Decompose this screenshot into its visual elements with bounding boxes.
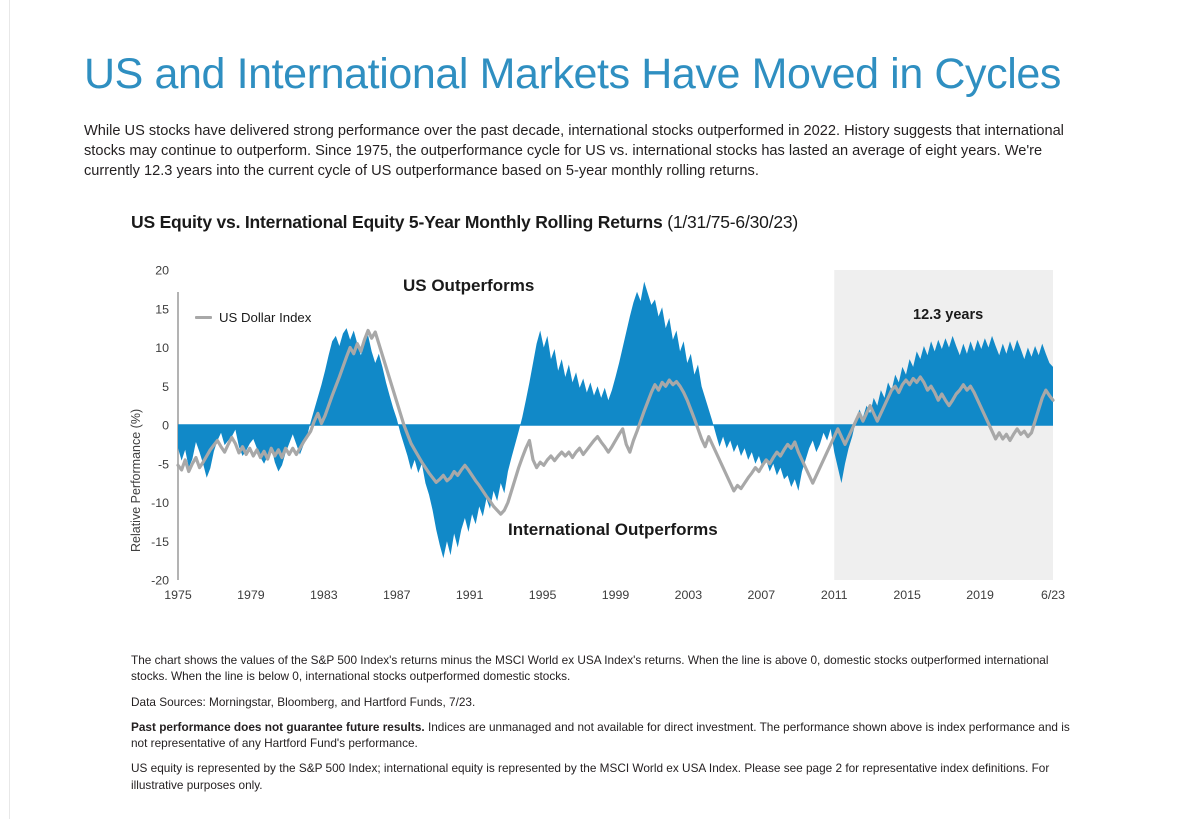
chart-title: US Equity vs. International Equity 5-Yea… <box>131 212 798 233</box>
y-axis-title: Relative Performance (%) <box>129 292 145 552</box>
footnote-item: US equity is represented by the S&P 500 … <box>131 760 1075 793</box>
x-tick-label: 6/23 <box>1041 588 1065 602</box>
footnote-item: Past performance does not guarantee futu… <box>131 719 1075 752</box>
footnote-item: Data Sources: Morningstar, Bloomberg, an… <box>131 694 1075 710</box>
x-tick-label: 2015 <box>893 588 921 602</box>
page-root: US and International Markets Have Moved … <box>0 0 1200 819</box>
y-axis-ticks: 20151050-5-10-15-20 <box>151 264 169 588</box>
x-tick-label: 2019 <box>966 588 994 602</box>
annotation-us-outperforms: US Outperforms <box>403 276 534 296</box>
footnote-bold-lead: Past performance does not guarantee futu… <box>131 720 425 734</box>
x-tick-label: 1991 <box>456 588 484 602</box>
x-tick-label: 2003 <box>675 588 703 602</box>
annotation-current-cycle-years: 12.3 years <box>913 307 983 323</box>
x-axis-ticks: 1975197919831987199119951999200320072011… <box>164 588 1065 602</box>
intro-paragraph: While US stocks have delivered strong pe… <box>84 121 1072 181</box>
x-tick-label: 2007 <box>748 588 776 602</box>
annotation-international-outperforms: International Outperforms <box>508 520 718 540</box>
y-tick-label: 10 <box>155 341 169 355</box>
legend-item-label: US Dollar Index <box>219 310 311 325</box>
y-tick-label: 15 <box>155 302 169 316</box>
footnote-text: The chart shows the values of the S&P 50… <box>131 653 1048 683</box>
footnote-text: US equity is represented by the S&P 500 … <box>131 761 1049 791</box>
chart-legend: US Dollar Index <box>195 310 311 325</box>
y-tick-label: -10 <box>151 496 169 510</box>
x-tick-label: 1979 <box>237 588 265 602</box>
footnote-item: The chart shows the values of the S&P 50… <box>131 652 1075 685</box>
y-tick-label: 0 <box>162 419 169 433</box>
intro-text: While US stocks have delivered strong pe… <box>84 121 1072 181</box>
x-tick-label: 1999 <box>602 588 630 602</box>
y-tick-label: -5 <box>158 457 169 471</box>
y-tick-label: -20 <box>151 574 169 588</box>
chart-title-period: (1/31/75-6/30/23) <box>663 212 799 232</box>
page-title: US and International Markets Have Moved … <box>84 52 1061 97</box>
x-tick-label: 1995 <box>529 588 557 602</box>
y-tick-label: 5 <box>162 380 169 394</box>
chart-container: Relative Performance (%) 20151050-5-10-1… <box>131 262 1071 602</box>
y-tick-label: 20 <box>155 264 169 278</box>
x-tick-label: 1983 <box>310 588 338 602</box>
x-tick-label: 1975 <box>164 588 192 602</box>
footnotes: The chart shows the values of the S&P 50… <box>131 652 1075 793</box>
x-tick-label: 1987 <box>383 588 411 602</box>
y-tick-label: -15 <box>151 535 169 549</box>
x-tick-label: 2011 <box>821 588 848 602</box>
legend-line-icon <box>195 316 212 319</box>
chart-title-main: US Equity vs. International Equity 5-Yea… <box>131 212 663 232</box>
footnote-text: Data Sources: Morningstar, Bloomberg, an… <box>131 695 475 709</box>
